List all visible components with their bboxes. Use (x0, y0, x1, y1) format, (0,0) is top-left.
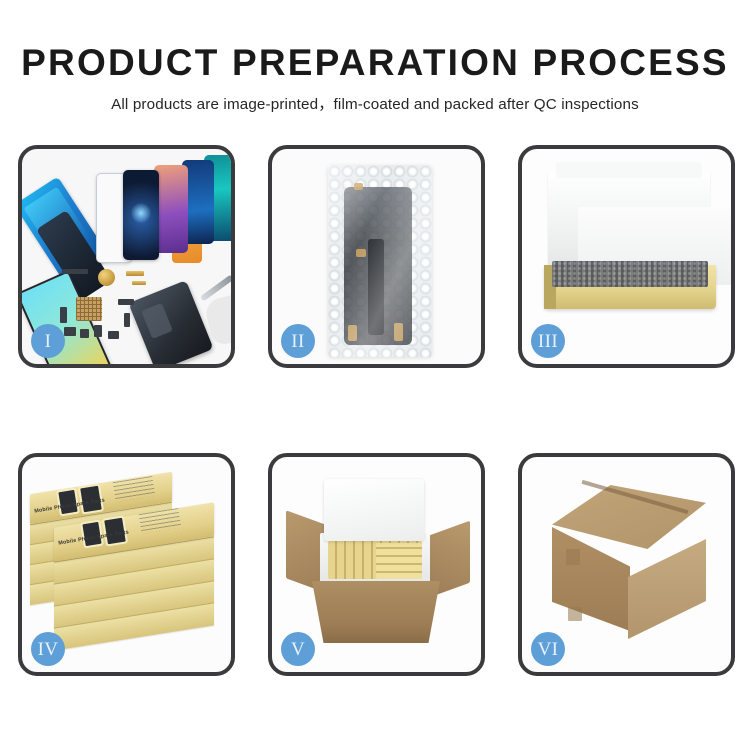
screw-set-icon (76, 297, 102, 321)
bubble-wrap-package-icon (328, 165, 432, 357)
step-panel-2[interactable]: II (268, 145, 485, 368)
step-badge-6: VI (531, 632, 565, 666)
step-badge-5: V (281, 632, 315, 666)
carton-left-face-icon (552, 527, 630, 631)
step-badge-1: I (31, 324, 65, 358)
page-subtitle: All products are image-printed，film-coat… (0, 83, 750, 114)
speaker-mesh-icon (62, 269, 88, 274)
phone-housing-icon (128, 280, 213, 364)
connector-gold-icon (132, 281, 146, 285)
small-part-icon-4 (108, 331, 119, 339)
page-title: PRODUCT PREPARATION PROCESS (0, 0, 750, 83)
phone-lcd-display-icon (123, 170, 159, 260)
packed-boxes-stack-icon (376, 543, 422, 579)
flex-ribbon-icon (60, 307, 67, 323)
step-badge-3: III (531, 324, 565, 358)
carton-right-face-icon (628, 539, 706, 639)
step-panel-5[interactable]: V (268, 453, 485, 676)
carton-body-icon (312, 581, 440, 643)
step-panel-4[interactable]: Mobile Phone Spare Parts Mobile Phone Sp… (18, 453, 235, 676)
packed-parts-row-icon (552, 261, 708, 287)
button-part-icon (124, 313, 130, 327)
flex-cable-gold-icon (126, 271, 144, 276)
wrap-sheen (328, 165, 432, 357)
phone-purple-display-icon (154, 165, 188, 253)
carton-tape-icon-2 (568, 607, 582, 621)
step-badge-2: II (281, 324, 315, 358)
process-step-grid: I II (18, 145, 735, 676)
small-part-icon-1 (64, 327, 76, 336)
step-badge-4: IV (31, 632, 65, 666)
small-part-icon-3 (94, 325, 102, 337)
step-panel-1[interactable]: I (18, 145, 235, 368)
white-foam-lid-icon (548, 171, 710, 267)
step-panel-6[interactable]: VI (518, 453, 735, 676)
step-panel-3[interactable]: III (518, 145, 735, 368)
camera-lens-ring-icon (98, 269, 115, 286)
small-part-icon-2 (80, 329, 89, 338)
carton-tape-icon-1 (566, 549, 580, 565)
antenna-part-icon (118, 299, 134, 305)
foam-lid-open-icon (324, 479, 424, 541)
header: PRODUCT PREPARATION PROCESS All products… (0, 0, 750, 114)
product-preparation-infographic: PRODUCT PREPARATION PROCESS All products… (0, 0, 750, 750)
